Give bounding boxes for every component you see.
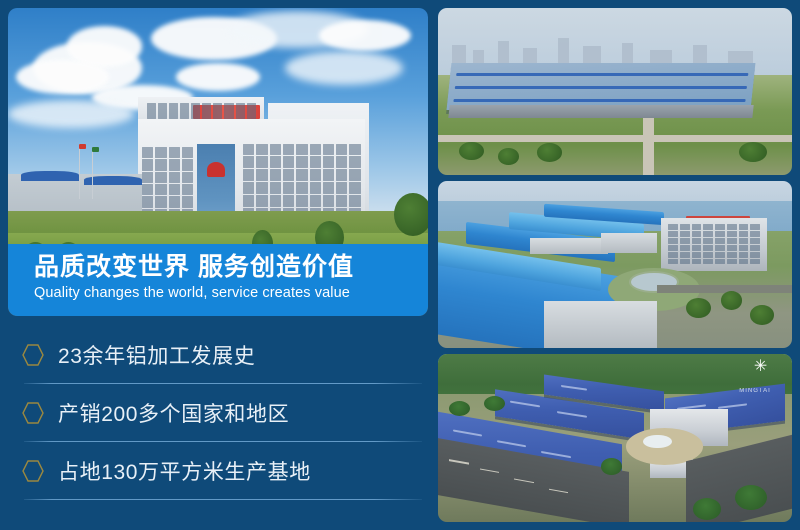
- hexagon-outline-icon: [22, 401, 44, 425]
- front-building: [544, 301, 657, 348]
- fountain: [643, 435, 671, 448]
- access-road: [643, 118, 654, 175]
- left-column: 品质改变世界 服务创造价值 Quality changes the world,…: [8, 8, 428, 522]
- cloud-shape: [16, 60, 108, 94]
- hero-image: 品质改变世界 服务创造价值 Quality changes the world,…: [8, 8, 428, 316]
- hexagon-outline-icon: [22, 343, 44, 367]
- list-item-label: 产销200多个国家和地区: [58, 398, 289, 428]
- list-item[interactable]: 23余年铝加工发展史: [8, 326, 428, 384]
- flag-pole: [79, 144, 80, 199]
- list-item-label: 占地130万平方米生产基地: [58, 456, 311, 486]
- gallery-image-1[interactable]: [438, 8, 792, 175]
- tree: [739, 142, 767, 162]
- low-building: [601, 233, 658, 253]
- window-grid: [147, 103, 256, 118]
- company-emblem: [207, 162, 225, 177]
- hexagon-outline-icon: [22, 459, 44, 483]
- list-divider: [24, 499, 422, 500]
- highlights-list: 23余年铝加工发展史 产销200多个国家和地区 占地130万: [8, 326, 428, 522]
- window-grid: [668, 224, 760, 264]
- flag-pole: [92, 147, 93, 199]
- cloud-shape: [8, 100, 134, 128]
- tree: [394, 193, 428, 236]
- gallery-column: ✳: [438, 8, 792, 522]
- tagline-english: Quality changes the world, service creat…: [34, 283, 428, 303]
- list-item-label: 23余年铝加工发展史: [58, 340, 255, 370]
- factory-wall: [448, 105, 754, 118]
- gallery-image-3[interactable]: ✳: [438, 354, 792, 522]
- tagline-chinese: 品质改变世界 服务创造价值: [34, 252, 428, 282]
- tree: [721, 291, 742, 309]
- cloud-shape: [319, 20, 411, 51]
- tree: [601, 458, 622, 475]
- windmill-icon: ✳: [754, 359, 767, 375]
- tree: [750, 305, 775, 325]
- list-item[interactable]: 产销200多个国家和地区: [8, 384, 428, 442]
- tree: [686, 298, 711, 318]
- promo-page: 品质改变世界 服务创造价值 Quality changes the world,…: [0, 0, 800, 530]
- cloud-shape: [285, 51, 403, 85]
- rendering-logo-text: MINGTAI: [739, 388, 771, 394]
- hero-card[interactable]: 品质改变世界 服务创造价值 Quality changes the world,…: [8, 8, 428, 316]
- tagline-banner: 品质改变世界 服务创造价值 Quality changes the world,…: [8, 244, 428, 316]
- low-building: [530, 238, 608, 255]
- flag: [79, 144, 86, 149]
- flag: [92, 147, 99, 152]
- tree: [537, 143, 562, 161]
- list-item[interactable]: 占地130万平方米生产基地: [8, 442, 428, 500]
- tree: [449, 401, 470, 416]
- cloud-shape: [176, 63, 260, 91]
- workshop-roof: [21, 171, 80, 181]
- factory-roof: [446, 63, 755, 110]
- gallery-image-2[interactable]: [438, 181, 792, 348]
- access-road: [438, 135, 792, 142]
- tree: [459, 142, 484, 160]
